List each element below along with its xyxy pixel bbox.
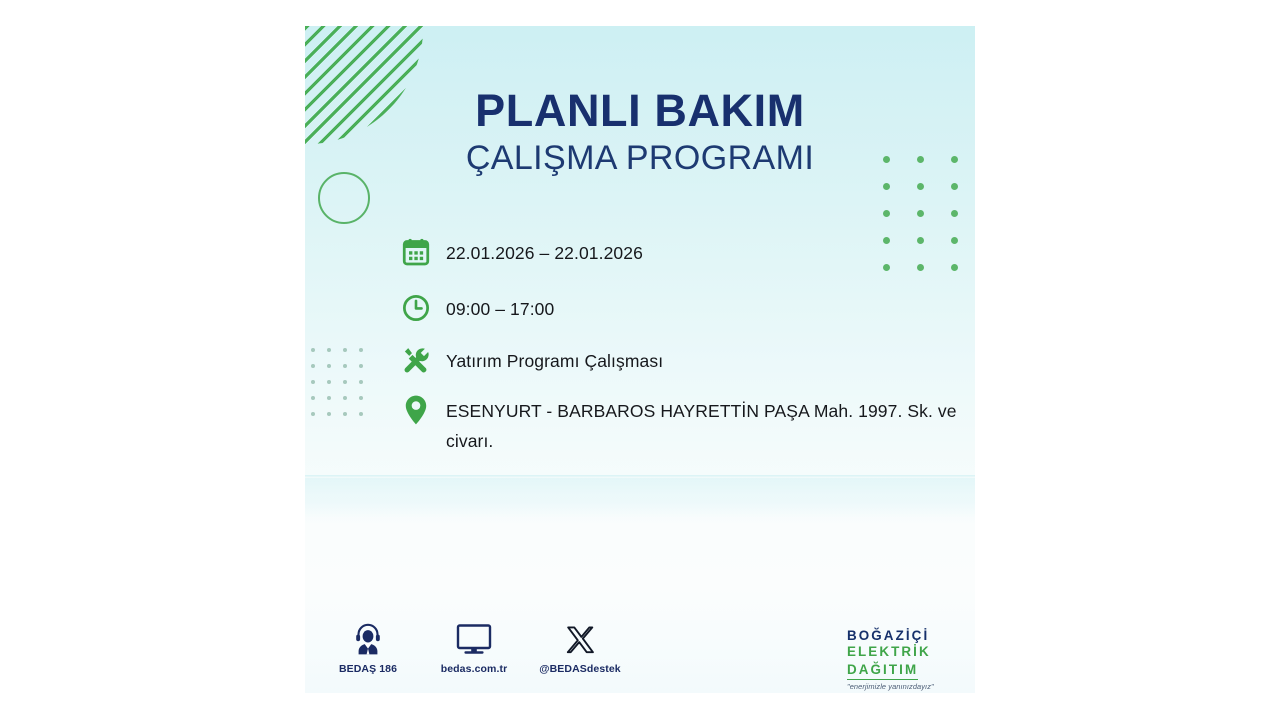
announcement-card: PLANLI BAKIM ÇALIŞMA PROGRAMI bbox=[305, 26, 975, 693]
logo-tagline: "enerjimizle yanınızdayız" bbox=[847, 682, 957, 691]
contact-social[interactable]: @BEDASdestek bbox=[539, 618, 621, 675]
x-twitter-icon bbox=[565, 618, 595, 656]
calendar-icon bbox=[398, 234, 434, 270]
headset-support-icon bbox=[352, 618, 384, 656]
logo-line-dagitim: DAĞITIM bbox=[847, 662, 918, 680]
clock-icon bbox=[398, 290, 434, 326]
time-range-text: 09:00 – 17:00 bbox=[446, 290, 554, 324]
info-list: 22.01.2026 – 22.01.2026 09:00 – 17:00 bbox=[398, 234, 958, 474]
footer-contacts: BEDAŞ 186 bedas.com.tr bbox=[327, 618, 621, 675]
info-row-time: 09:00 – 17:00 bbox=[398, 290, 958, 326]
title-primary: PLANLI BAKIM bbox=[305, 88, 975, 134]
date-range-text: 22.01.2026 – 22.01.2026 bbox=[446, 234, 643, 268]
card-seam-glow bbox=[305, 478, 975, 518]
contact-website-label: bedas.com.tr bbox=[441, 663, 508, 675]
title-secondary: ÇALIŞMA PROGRAMI bbox=[305, 140, 975, 177]
tools-icon bbox=[398, 342, 434, 378]
info-row-date: 22.01.2026 – 22.01.2026 bbox=[398, 234, 958, 270]
monitor-icon bbox=[455, 618, 493, 656]
bedas-logo: BOĞAZİÇİ ELEKTRİK DAĞITIM "enerjimizle y… bbox=[847, 628, 957, 691]
location-pin-icon bbox=[398, 392, 434, 428]
info-row-location: ESENYURT - BARBAROS HAYRETTİN PAŞA Mah. … bbox=[398, 392, 958, 456]
circle-outline-decoration bbox=[318, 172, 370, 224]
logo-line-bogazici: BOĞAZİÇİ bbox=[847, 628, 957, 644]
contact-phone-label: BEDAŞ 186 bbox=[339, 663, 397, 675]
screenshot-canvas: PLANLI BAKIM ÇALIŞMA PROGRAMI bbox=[0, 0, 1280, 720]
page-title: PLANLI BAKIM ÇALIŞMA PROGRAMI bbox=[305, 88, 975, 177]
work-type-text: Yatırım Programı Çalışması bbox=[446, 342, 663, 376]
contact-social-label: @BEDASdestek bbox=[539, 663, 620, 675]
dot-grid-left-decoration bbox=[311, 348, 375, 428]
contact-phone[interactable]: BEDAŞ 186 bbox=[327, 618, 409, 675]
info-row-work-type: Yatırım Programı Çalışması bbox=[398, 342, 958, 378]
location-text: ESENYURT - BARBAROS HAYRETTİN PAŞA Mah. … bbox=[446, 392, 958, 456]
contact-website[interactable]: bedas.com.tr bbox=[433, 618, 515, 675]
logo-line-elektrik: ELEKTRİK bbox=[847, 644, 957, 660]
